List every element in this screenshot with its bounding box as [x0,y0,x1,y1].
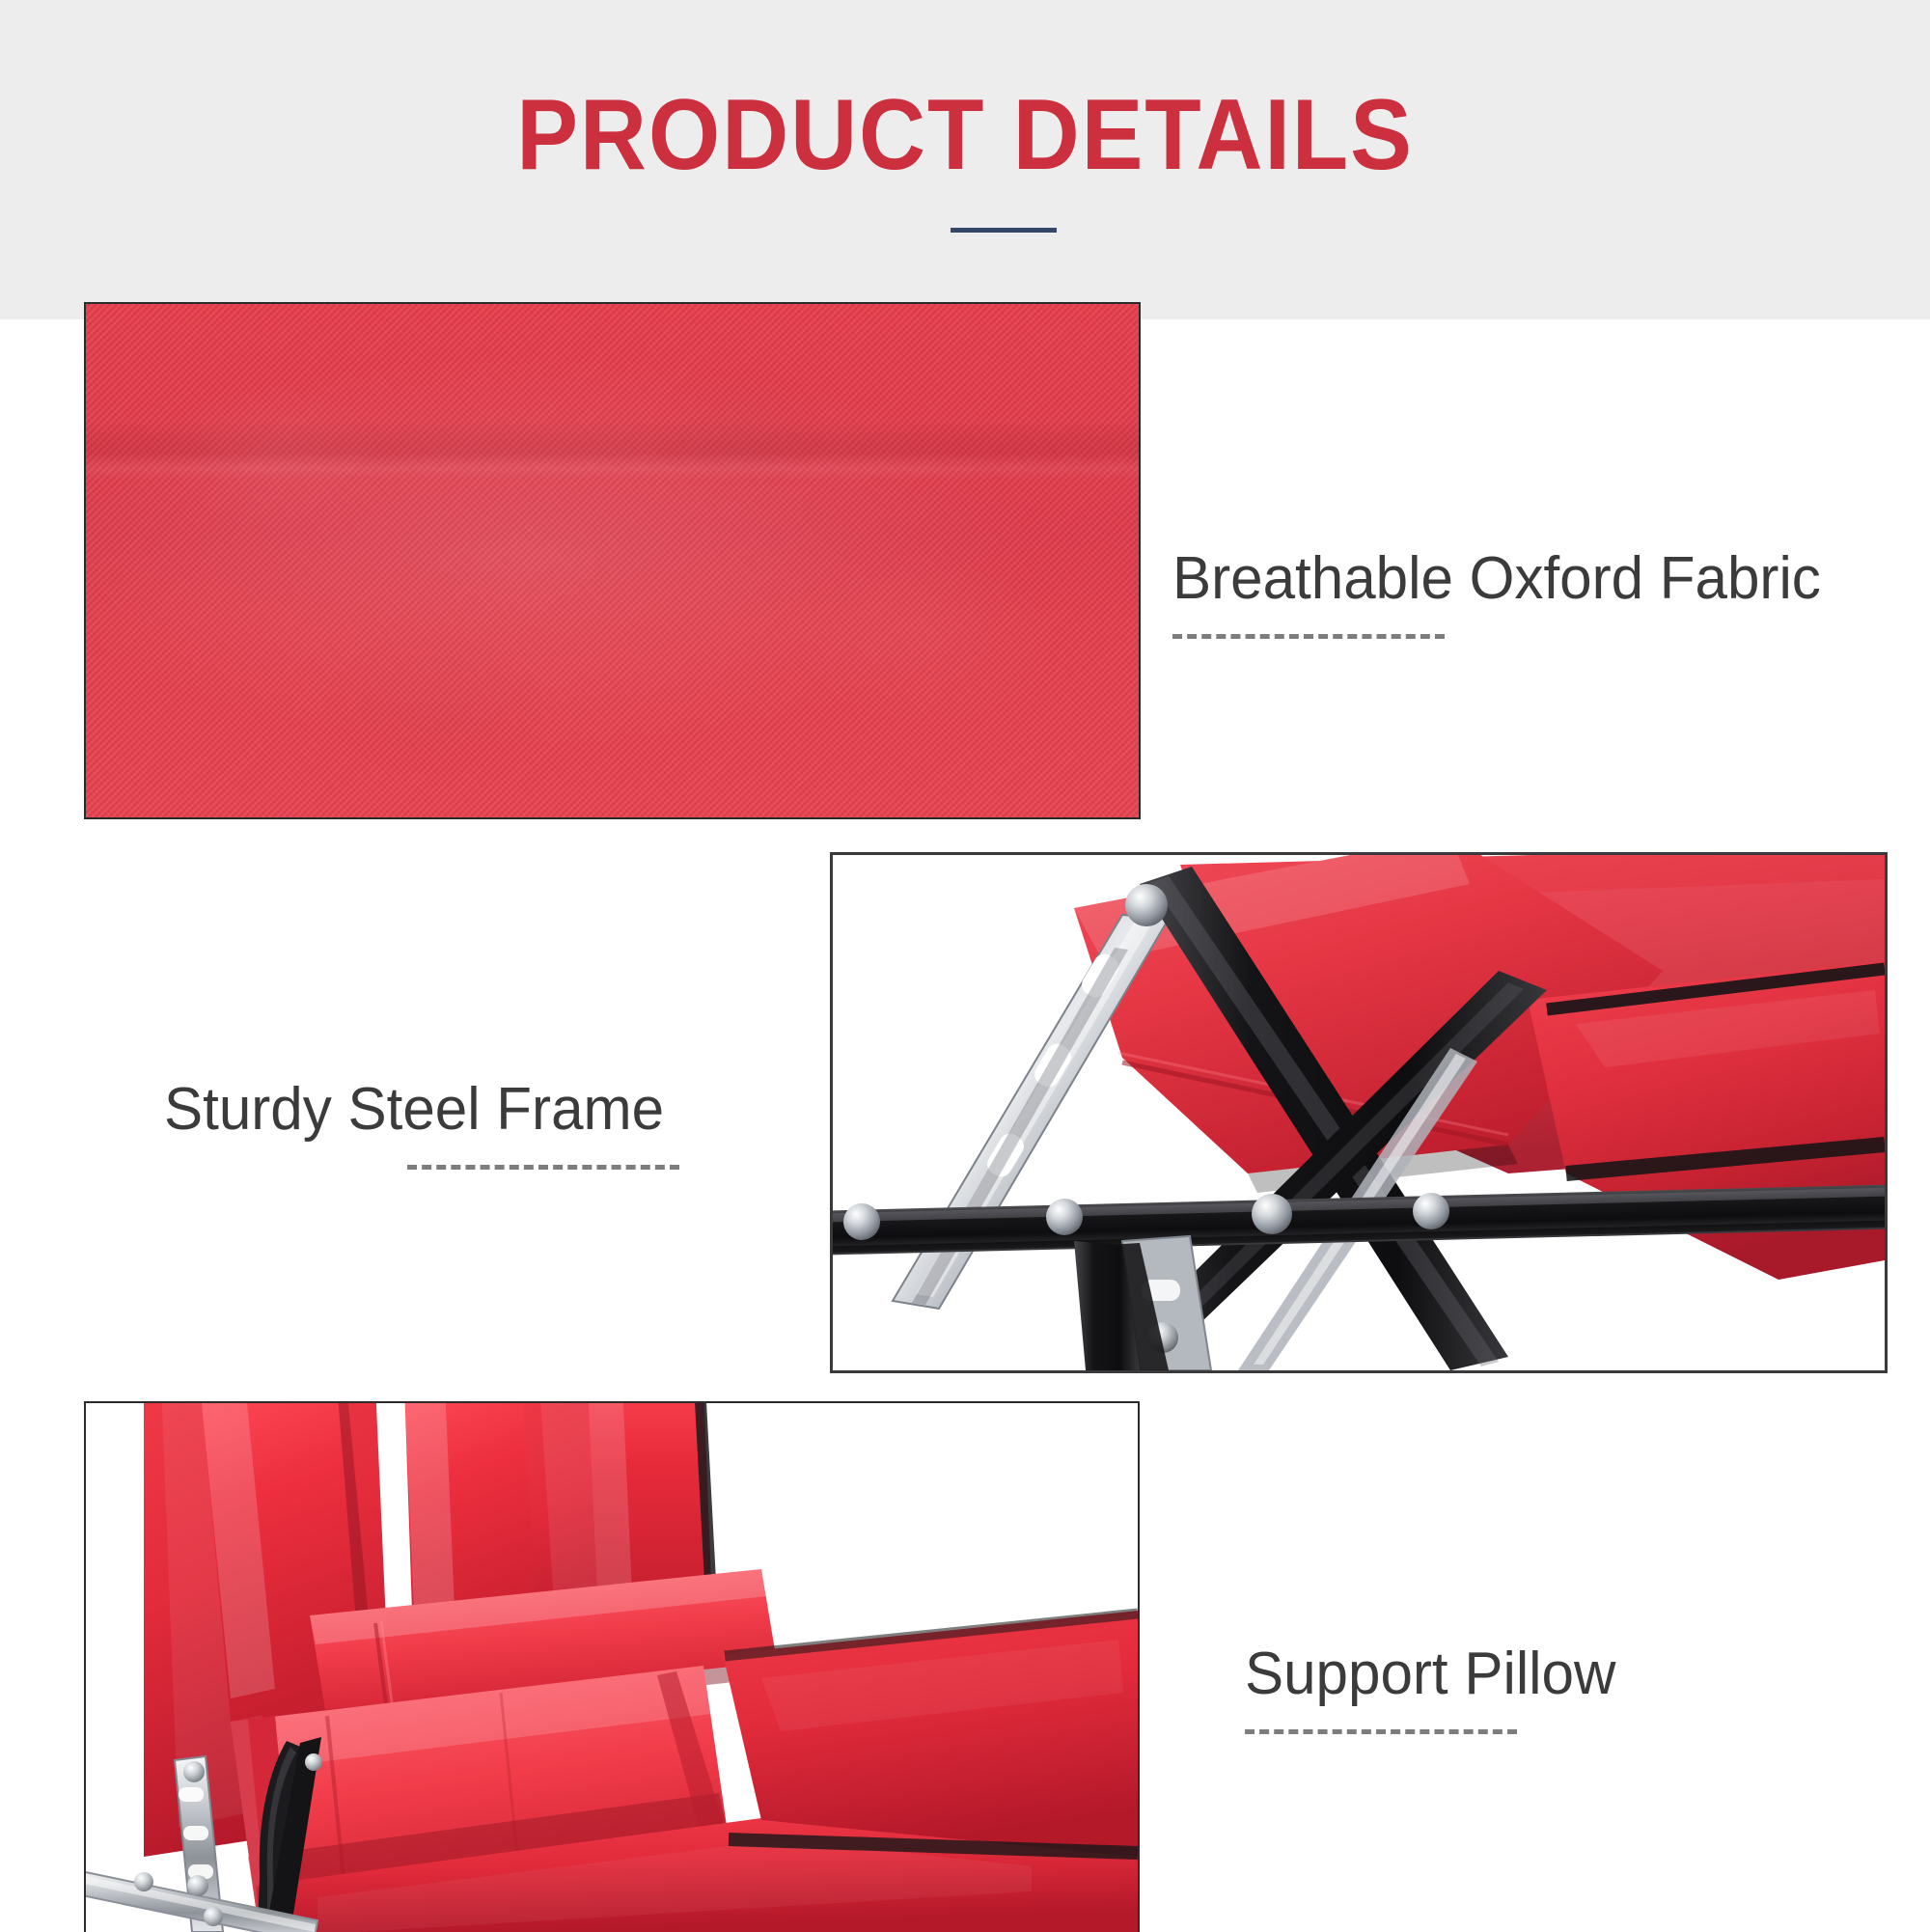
title-accent-underline [951,228,1057,233]
caption-dashed-rule [407,1165,679,1170]
feature-caption-frame: Sturdy Steel Frame [164,1076,679,1170]
page-title: PRODUCT DETAILS [77,85,1853,185]
support-pillow-image-panel [84,1401,1140,1932]
feature-caption-pillow: Support Pillow [1245,1641,1627,1734]
steel-frame-image-panel [830,852,1888,1373]
fabric-highlight-sheen [86,304,1139,817]
red-support-pillow-closeup-photo [86,1403,1138,1932]
page-header: PRODUCT DETAILS [0,0,1930,319]
feature-label-pillow: Support Pillow [1245,1641,1615,1708]
caption-dashed-rule [1245,1729,1517,1734]
feature-label-fabric: Breathable Oxford Fabric [1172,545,1821,613]
steel-frame-bracket-closeup-photo [833,855,1885,1370]
caption-dashed-rule [1172,634,1445,639]
feature-caption-fabric: Breathable Oxford Fabric [1172,545,1841,639]
feature-label-frame: Sturdy Steel Frame [164,1076,664,1144]
fabric-image-panel [84,302,1141,819]
